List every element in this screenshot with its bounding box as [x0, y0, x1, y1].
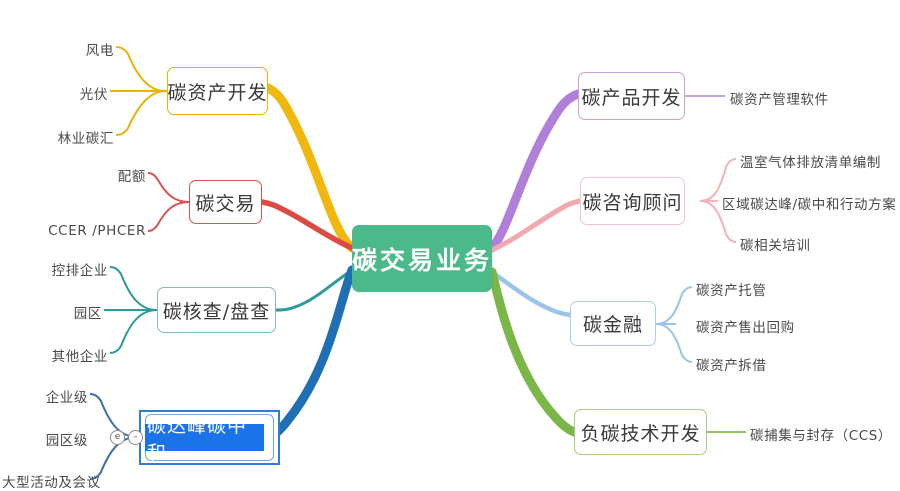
node-carbon-product-development[interactable]: 碳产品开发 — [578, 72, 685, 120]
leaf-label: 区域碳达峰/碳中和行动方案 — [722, 197, 896, 213]
leaf-carbon-related-training[interactable]: 碳相关培训 — [740, 234, 811, 254]
link-root-to-negative-carbon-tech — [492, 272, 574, 432]
leaf-label: 光伏 — [80, 87, 108, 103]
leaf-label: 温室气体排放清单编制 — [740, 155, 881, 171]
leaf-label: CCER /PHCER — [48, 223, 146, 239]
node-carbon-verification[interactable]: 碳核查/盘查 — [157, 287, 276, 333]
leaf-link-wind — [116, 47, 167, 91]
node-label-editing[interactable]: 碳达峰碳中和 — [145, 424, 264, 451]
root-node-label: 碳交易业务 — [352, 241, 492, 277]
leaf-large-events-conferences[interactable]: 大型活动及会议 — [2, 471, 88, 491]
leaf-label: 其他企业 — [52, 349, 108, 365]
note-badge-icon[interactable]: e — [110, 430, 125, 445]
leaf-carbon-capture-storage-ccs[interactable]: 碳捕集与封存（CCS） — [750, 424, 892, 444]
leaf-label: 碳资产售出回购 — [696, 320, 795, 336]
leaf-enterprise-level[interactable]: 企业级 — [2, 386, 88, 406]
node-label: 负碳技术开发 — [580, 419, 700, 446]
leaf-link-ccer — [148, 202, 189, 231]
leaf-label: 企业级 — [46, 390, 88, 406]
leaf-park-level[interactable]: 园区级 — [2, 429, 88, 449]
leaf-regional-peak-neutral-action-plan[interactable]: 区域碳达峰/碳中和行动方案 — [722, 193, 896, 213]
node-label: 碳产品开发 — [581, 83, 681, 110]
node-carbon-trading[interactable]: 碳交易 — [189, 180, 262, 224]
leaf-industrial-park[interactable]: 园区 — [20, 302, 102, 322]
leaf-other-enterprise[interactable]: 其他企业 — [20, 345, 108, 365]
leaf-link-asset-lending — [656, 324, 692, 362]
leaf-carbon-asset-lending[interactable]: 碳资产拆借 — [696, 354, 767, 374]
leaf-link-asset-custody — [656, 287, 692, 324]
leaf-link-other-enterprise — [110, 310, 157, 353]
node-label: 碳达峰碳中和 — [147, 411, 262, 465]
leaf-label: 风电 — [86, 43, 114, 59]
leaf-link-controlled-enterprise — [110, 267, 157, 310]
leaf-link-forestry — [116, 91, 167, 135]
leaf-carbon-asset-custody[interactable]: 碳资产托管 — [696, 279, 767, 299]
node-label: 碳咨询顾问 — [582, 188, 682, 215]
leaf-label: 碳相关培训 — [740, 238, 811, 254]
leaf-ccer-phcer[interactable]: CCER /PHCER — [30, 223, 146, 239]
node-negative-carbon-tech[interactable]: 负碳技术开发 — [574, 409, 707, 455]
node-label: 碳交易 — [195, 189, 255, 216]
leaf-forestry-carbon-sink[interactable]: 林业碳汇 — [20, 127, 114, 147]
leaf-label: 园区级 — [46, 433, 88, 449]
leaf-label: 园区 — [74, 306, 102, 322]
collapse-minus-icon[interactable]: – — [128, 430, 143, 445]
node-label: 碳核查/盘查 — [163, 297, 270, 324]
leaf-controlled-enterprise[interactable]: 控排企业 — [20, 259, 108, 279]
root-node[interactable]: 碳交易业务 — [352, 225, 492, 292]
node-carbon-asset-development[interactable]: 碳资产开发 — [167, 67, 268, 115]
leaf-label: 配额 — [118, 169, 146, 185]
leaf-label: 碳资产管理软件 — [730, 92, 829, 108]
leaf-label: 林业碳汇 — [58, 131, 114, 147]
mindmap-canvas[interactable]: 碳交易业务 碳资产开发 碳交易 碳核查/盘查 碳达峰碳中和 e – 碳产品开发 … — [0, 0, 900, 489]
leaf-label: 碳捕集与封存（CCS） — [750, 428, 892, 444]
node-carbon-finance[interactable]: 碳金融 — [570, 301, 656, 346]
leaf-label: 碳资产托管 — [696, 283, 767, 299]
leaf-label: 控排企业 — [52, 263, 108, 279]
leaf-allowance[interactable]: 配额 — [64, 165, 146, 185]
leaf-wind-power[interactable]: 风电 — [36, 39, 114, 59]
node-label: 碳资产开发 — [168, 78, 268, 105]
node-label: 碳金融 — [583, 310, 643, 337]
leaf-ghg-emission-inventory[interactable]: 温室气体排放清单编制 — [740, 151, 881, 171]
link-root-to-peak-neutral — [270, 270, 352, 437]
leaf-link-quota — [148, 173, 189, 202]
leaf-carbon-asset-management-software[interactable]: 碳资产管理软件 — [730, 88, 829, 108]
leaf-carbon-asset-sale-repurchase[interactable]: 碳资产售出回购 — [696, 316, 795, 336]
leaf-photovoltaic[interactable]: 光伏 — [36, 83, 108, 103]
leaf-label: 碳资产拆借 — [696, 358, 767, 374]
node-carbon-consulting[interactable]: 碳咨询顾问 — [580, 177, 685, 225]
